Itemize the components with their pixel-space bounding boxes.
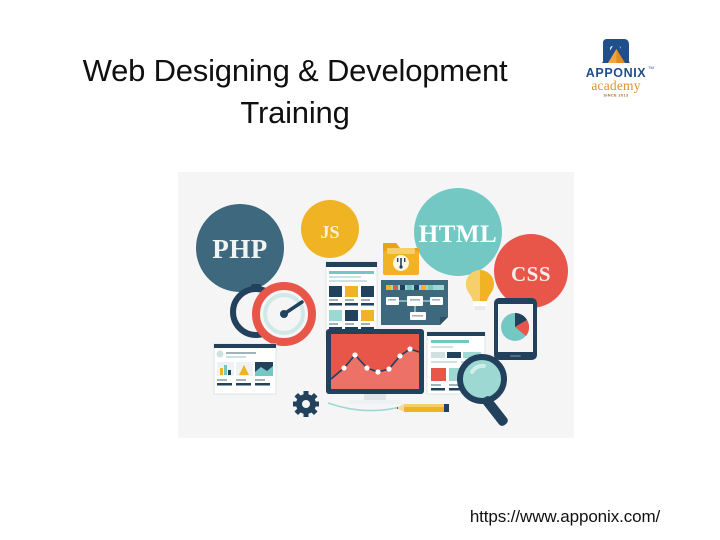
- slide-canvas: Web Designing & Development Training APP…: [0, 0, 720, 540]
- tablet-pie-chart: [494, 298, 537, 360]
- gear-icon: [293, 391, 319, 417]
- logo-trademark: TM: [648, 65, 654, 70]
- logo-brand-bottom: academy: [591, 78, 640, 93]
- svg-text:JS: JS: [320, 222, 339, 242]
- stopwatch-gauge-icon: [233, 284, 312, 342]
- desktop-monitor-line-chart: [326, 329, 424, 404]
- bubble-css-icon: CSS: [494, 234, 568, 308]
- page-title: Web Designing & Development Training: [60, 50, 530, 134]
- bubble-js-icon: JS: [301, 200, 359, 258]
- bubble-php-icon: PHP: [196, 204, 284, 292]
- left-browser-window: [326, 262, 377, 338]
- logo-mark-icon: [602, 39, 630, 63]
- website-url[interactable]: https://www.apponix.com/: [430, 507, 700, 527]
- logo-tagline: SINCE 2013: [604, 94, 629, 98]
- pie-chart-icon: [501, 313, 529, 341]
- code-window: [381, 280, 448, 325]
- svg-text:HTML: HTML: [419, 221, 497, 248]
- svg-text:PHP: PHP: [212, 234, 268, 264]
- web-development-illustration: PHP JS HTML CSS: [178, 172, 574, 438]
- small-dashboard-window: [214, 344, 276, 394]
- bubble-html-icon: HTML: [414, 188, 502, 276]
- svg-text:CSS: CSS: [511, 262, 551, 286]
- apponix-academy-logo: APPONIX TM academy SINCE 2013: [572, 37, 662, 99]
